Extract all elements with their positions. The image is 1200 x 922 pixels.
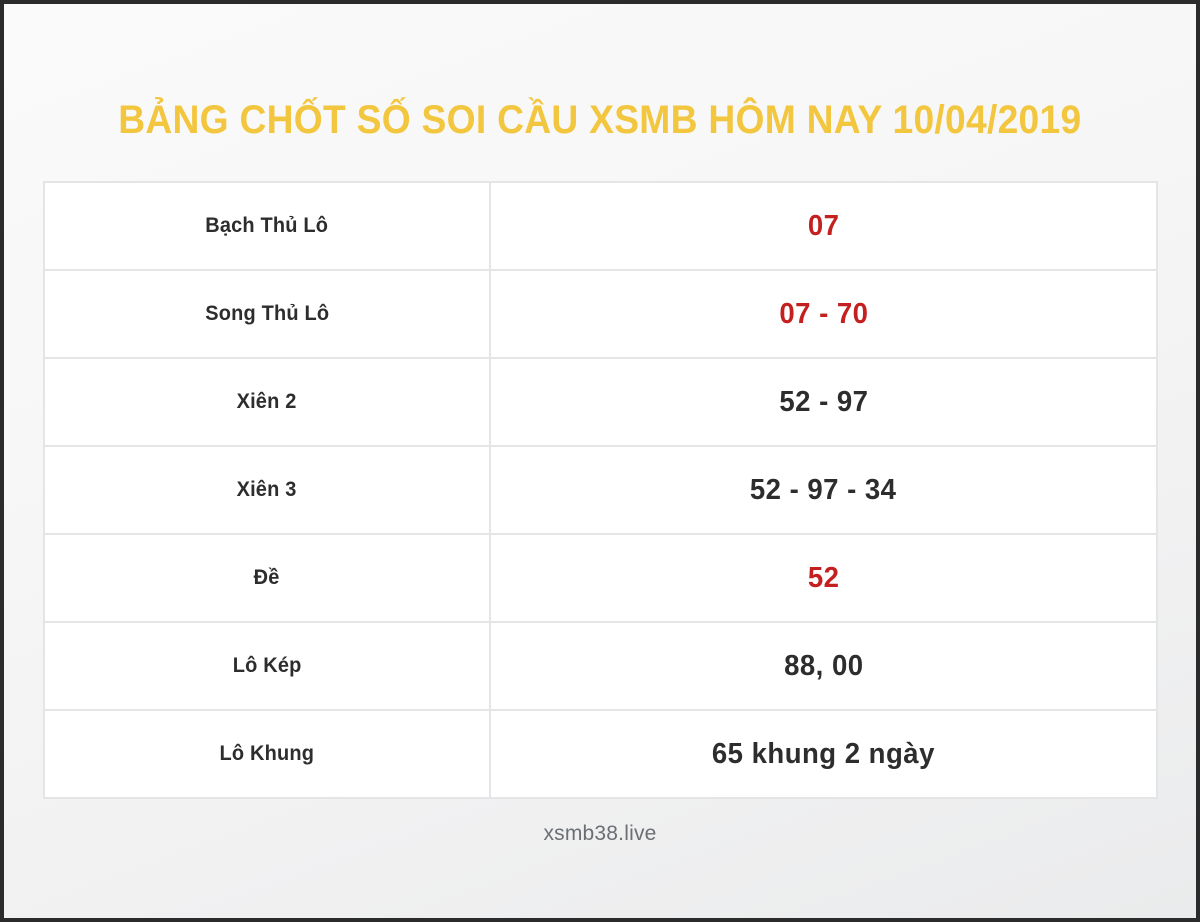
prediction-table-container: Bạch Thủ Lô 07 Song Thủ Lô 07 - 70	[43, 181, 1156, 799]
table-cell-value: 65 khung 2 ngày	[490, 710, 1157, 798]
row-value: 52	[808, 562, 840, 595]
site-watermark: xsmb38.live	[543, 822, 656, 845]
table-cell-value: 88, 00	[490, 622, 1157, 710]
table-cell-label: Song Thủ Lô	[44, 270, 490, 358]
row-label: Xiên 3	[237, 478, 297, 502]
table-cell-label: Xiên 2	[44, 358, 490, 446]
table-row: Xiên 2 52 - 97	[44, 358, 1157, 446]
table-cell-label: Bạch Thủ Lô	[44, 182, 490, 270]
page-footer: xsmb38.live	[4, 822, 1196, 846]
table-cell-label: Xiên 3	[44, 446, 490, 534]
table-cell-value: 07	[490, 182, 1157, 270]
table-cell-value: 07 - 70	[490, 270, 1157, 358]
table-row: Lô Khung 65 khung 2 ngày	[44, 710, 1157, 798]
table-row: Đề 52	[44, 534, 1157, 622]
page-title: BẢNG CHỐT SỐ SOI CẦU XSMB HÔM NAY 10/04/…	[118, 96, 1081, 144]
row-label: Bạch Thủ Lô	[206, 214, 329, 238]
row-value: 65 khung 2 ngày	[712, 738, 935, 771]
lottery-prediction-card: BẢNG CHỐT SỐ SOI CẦU XSMB HÔM NAY 10/04/…	[0, 0, 1200, 922]
row-label: Lô Kép	[233, 654, 302, 678]
page-header: BẢNG CHỐT SỐ SOI CẦU XSMB HÔM NAY 10/04/…	[4, 96, 1196, 144]
prediction-table-body: Bạch Thủ Lô 07 Song Thủ Lô 07 - 70	[44, 182, 1157, 798]
row-value: 07 - 70	[779, 298, 868, 331]
row-label: Xiên 2	[237, 390, 297, 414]
table-row: Song Thủ Lô 07 - 70	[44, 270, 1157, 358]
table-cell-value: 52 - 97 - 34	[490, 446, 1157, 534]
table-row: Lô Kép 88, 00	[44, 622, 1157, 710]
table-row: Bạch Thủ Lô 07	[44, 182, 1157, 270]
row-label: Song Thủ Lô	[205, 302, 329, 326]
table-cell-value: 52 - 97	[490, 358, 1157, 446]
row-label: Lô Khung	[220, 742, 315, 766]
row-label: Đề	[254, 566, 280, 590]
row-value: 52 - 97 - 34	[750, 474, 897, 507]
table-cell-label: Lô Kép	[44, 622, 490, 710]
table-row: Xiên 3 52 - 97 - 34	[44, 446, 1157, 534]
row-value: 07	[808, 210, 840, 243]
row-value: 88, 00	[784, 650, 863, 683]
table-cell-label: Lô Khung	[44, 710, 490, 798]
prediction-table: Bạch Thủ Lô 07 Song Thủ Lô 07 - 70	[43, 181, 1158, 799]
table-cell-label: Đề	[44, 534, 490, 622]
table-cell-value: 52	[490, 534, 1157, 622]
row-value: 52 - 97	[779, 386, 868, 419]
